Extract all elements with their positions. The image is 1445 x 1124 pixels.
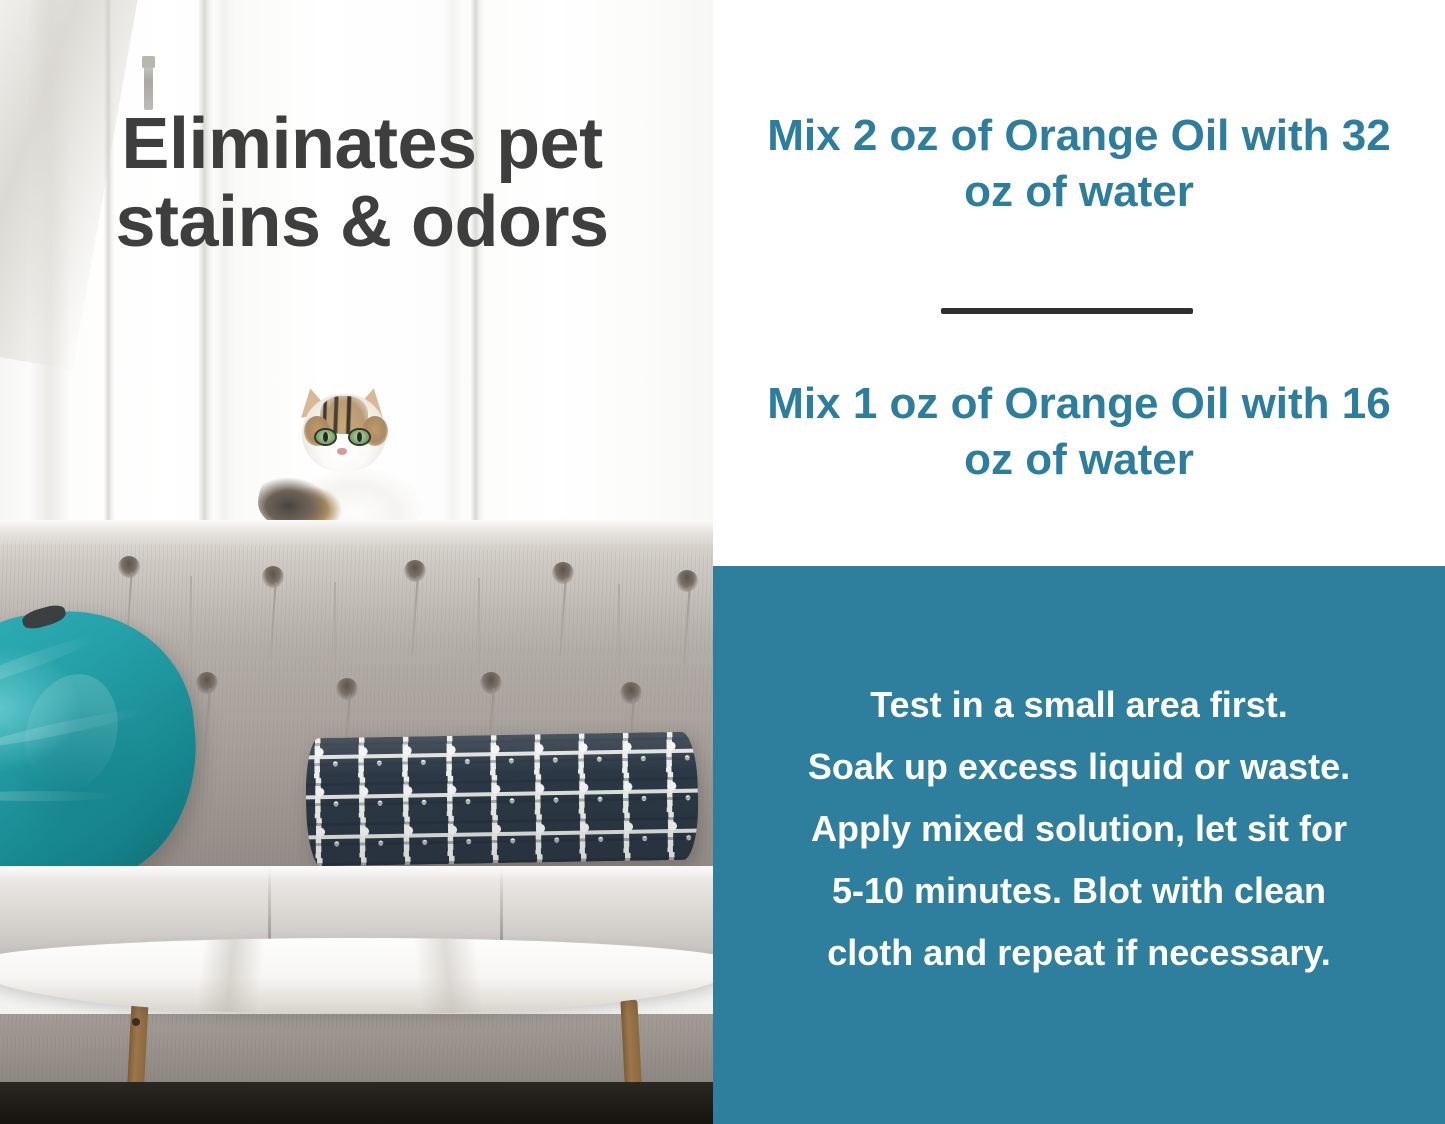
sofa-tuft bbox=[262, 566, 284, 588]
ratio-large-line-1: Mix 2 oz of Orange Oil bbox=[767, 111, 1229, 160]
sofa-top-highlight bbox=[0, 520, 713, 546]
product-infographic: Eliminates pet stains & odors Mix 2 oz o… bbox=[0, 0, 1445, 1124]
window-frame-bar bbox=[104, 0, 115, 600]
instruction-line-5: cloth and repeat if necessary. bbox=[741, 922, 1417, 984]
window-frame-bar bbox=[198, 0, 214, 600]
sofa-tuft bbox=[118, 556, 140, 578]
ratio-small-line-1: Mix 1 oz of Orange Oil bbox=[767, 379, 1229, 428]
cat-eye-left bbox=[316, 430, 335, 444]
floor bbox=[0, 1082, 713, 1124]
mixing-ratio-large: Mix 2 oz of Orange Oil with 32 oz of wat… bbox=[737, 108, 1421, 221]
section-divider bbox=[941, 308, 1193, 314]
headline-line-2: stains & odors bbox=[52, 184, 672, 262]
sofa-tuft bbox=[480, 672, 502, 694]
sofa-seam bbox=[190, 576, 192, 676]
sofa-tuft bbox=[676, 570, 698, 592]
window-latch bbox=[144, 62, 153, 110]
pillow-fold bbox=[12, 663, 132, 803]
page-title: Eliminates pet stains & odors bbox=[52, 106, 672, 262]
instructions-column: Mix 2 oz of Orange Oil with 32 oz of wat… bbox=[713, 0, 1445, 1124]
cat-nose bbox=[337, 448, 347, 455]
mixing-ratio-panel: Mix 2 oz of Orange Oil with 32 oz of wat… bbox=[713, 0, 1445, 566]
cat-eye-right bbox=[350, 430, 369, 444]
sofa-tuft bbox=[336, 678, 358, 700]
marble-coffee-table bbox=[0, 938, 713, 1014]
headline-line-1: Eliminates pet bbox=[121, 104, 602, 184]
sofa-seam bbox=[478, 578, 480, 678]
seat-highlight bbox=[0, 866, 713, 880]
pillow-fold bbox=[0, 791, 117, 801]
sofa-tuft bbox=[552, 562, 574, 584]
floor-shadow-band bbox=[0, 1014, 713, 1084]
instruction-line-4: 5-10 minutes. Blot with clean bbox=[741, 860, 1417, 922]
instruction-line-3: Apply mixed solution, let sit for bbox=[741, 798, 1417, 860]
sofa-seam bbox=[334, 582, 336, 682]
lifestyle-photo: Eliminates pet stains & odors bbox=[0, 0, 713, 1124]
sofa-tuft bbox=[404, 560, 426, 582]
instruction-line-2: Soak up excess liquid or waste. bbox=[741, 736, 1417, 798]
table-leg-joint bbox=[132, 1018, 140, 1026]
sofa-seam bbox=[618, 584, 620, 684]
patterned-lumbar-pillow bbox=[305, 732, 699, 867]
sofa-tuft bbox=[620, 682, 642, 704]
marble-veining bbox=[0, 938, 713, 1014]
instruction-line-1: Test in a small area first. bbox=[741, 674, 1417, 736]
mixing-ratio-small: Mix 1 oz of Orange Oil with 16 oz of wat… bbox=[737, 376, 1421, 489]
window-frame-bar bbox=[470, 0, 484, 600]
cat bbox=[258, 386, 426, 536]
usage-instructions-panel: Test in a small area first. Soak up exce… bbox=[713, 566, 1445, 1124]
sofa-tuft bbox=[196, 672, 218, 694]
usage-instructions: Test in a small area first. Soak up exce… bbox=[741, 674, 1417, 984]
